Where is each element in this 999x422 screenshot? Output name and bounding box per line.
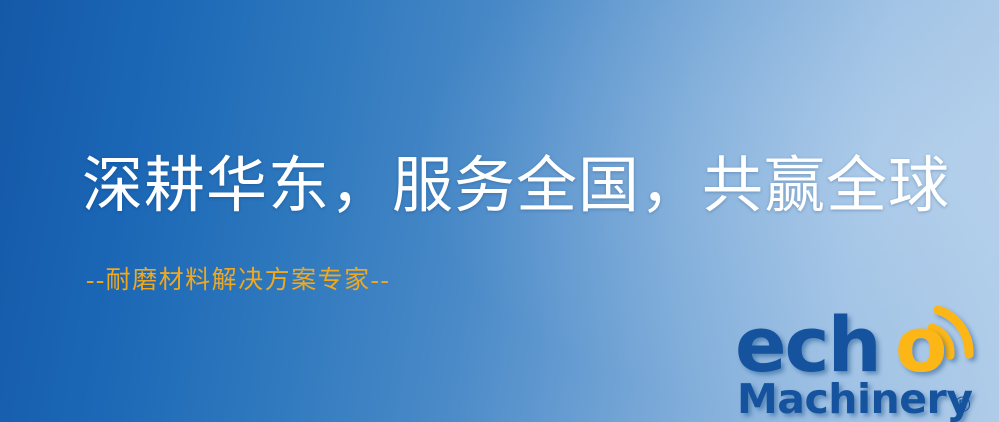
hero-banner: 深耕华东，服务全国，共赢全球 --耐磨材料解决方案专家-- ech o Mach… xyxy=(0,0,999,422)
banner-headline: 深耕华东，服务全国，共赢全球 xyxy=(82,154,950,220)
registered-trademark-icon: ® xyxy=(952,393,973,417)
logo-tagline: Machinery xyxy=(737,375,972,422)
company-logo[interactable]: ech o Machinery ® xyxy=(731,292,993,422)
banner-subtitle: --耐磨材料解决方案专家-- xyxy=(86,266,390,296)
